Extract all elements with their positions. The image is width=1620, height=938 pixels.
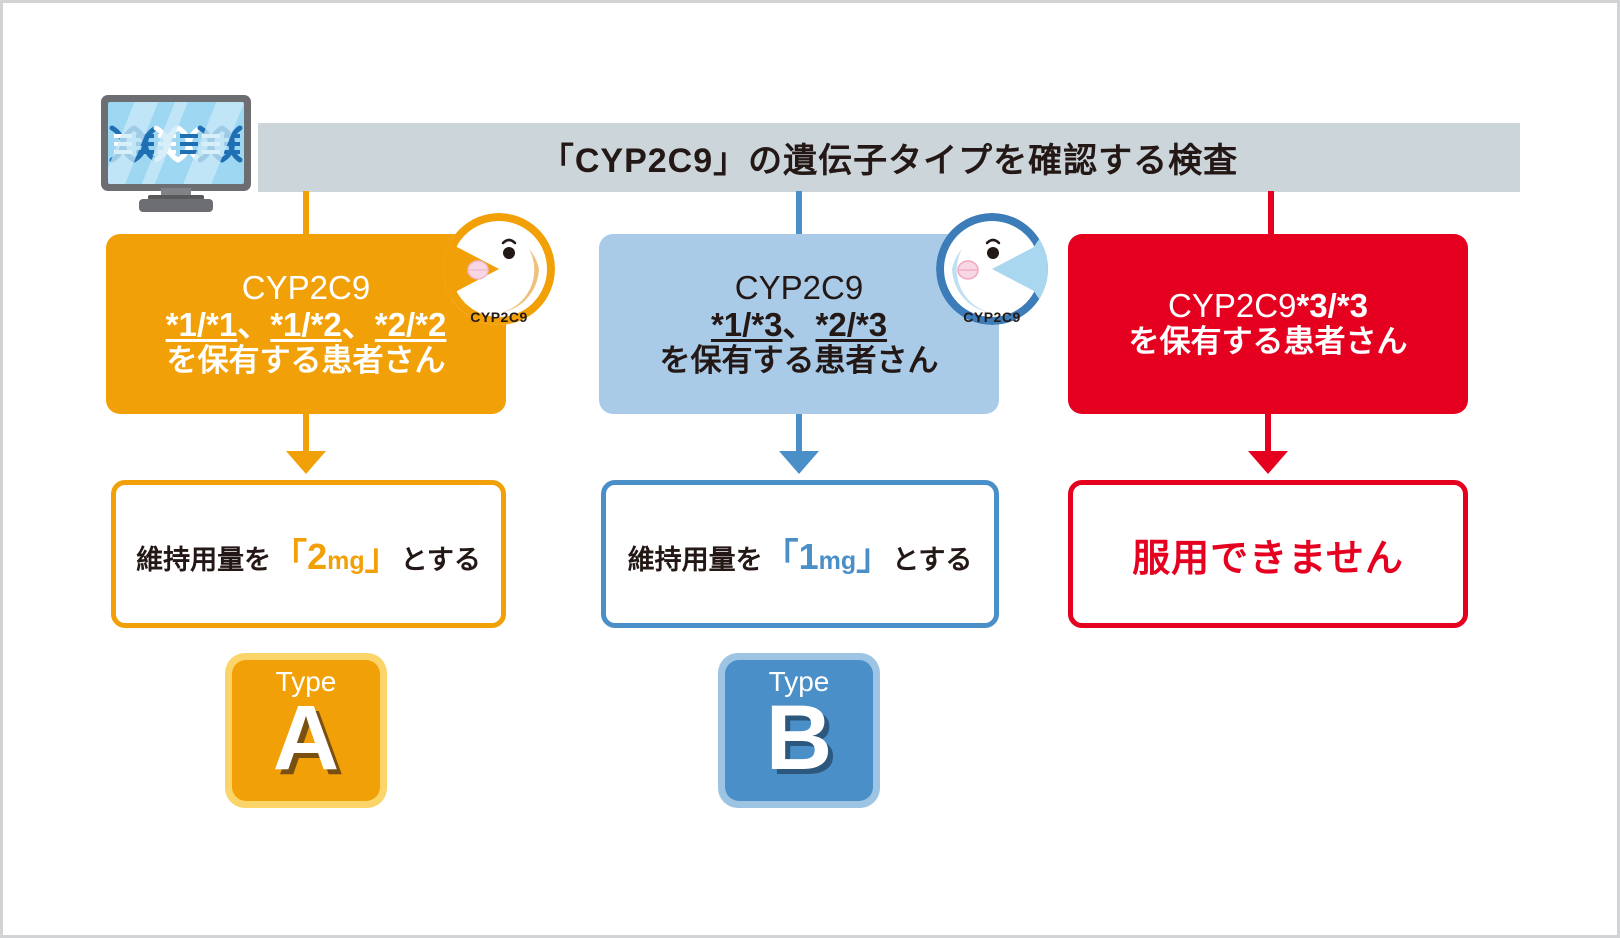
group-box-type-c: CYP2C9*3/*3 を保有する患者さん	[1068, 234, 1468, 414]
connector-line-b	[796, 191, 802, 236]
group-subtitle-b: を保有する患者さん	[660, 344, 939, 379]
result-suffix-a: とする	[401, 545, 481, 575]
result-suffix-b: とする	[892, 545, 972, 575]
mascot-cyp2c9-orange: CYP2C9	[443, 213, 555, 343]
result-dose-b: 1	[799, 536, 819, 577]
allele-list-b: *1/*3、*2/*3	[711, 307, 887, 344]
allele-c-1: *3/*3	[1296, 287, 1368, 324]
connector-line-c	[1268, 191, 1274, 236]
result-box-type-b: 維持用量を「1mg」とする	[601, 480, 999, 628]
allele-b-1: *1/*3	[711, 306, 783, 343]
result-close-bracket-b: 」	[856, 536, 892, 577]
gene-name-c: CYP2C9	[1168, 287, 1296, 324]
group-subtitle-c: を保有する患者さん	[1129, 325, 1408, 360]
arrow-stem-a	[303, 414, 309, 454]
monitor-base	[139, 199, 213, 212]
gene-name-b: CYP2C9	[735, 270, 863, 307]
type-badge-b: Type B	[718, 653, 880, 808]
page-title: 「CYP2C9」の遺伝子タイプを確認する検査	[258, 123, 1520, 192]
title-banner: 「CYP2C9」の遺伝子タイプを確認する検査	[258, 123, 1520, 192]
result-dose-a: 2	[307, 536, 327, 577]
gene-name-a: CYP2C9	[242, 270, 370, 307]
result-prefix-b: 維持用量を	[628, 545, 763, 575]
result-close-bracket-a: 」	[365, 536, 401, 577]
monitor-screen	[108, 102, 244, 184]
gene-line-c: CYP2C9*3/*3	[1168, 288, 1368, 325]
arrow-head-c	[1248, 451, 1288, 474]
result-text-c: 服用できません	[1132, 527, 1404, 582]
result-prefix-a: 維持用量を	[136, 545, 271, 575]
mascot-label-a: CYP2C9	[443, 309, 555, 325]
mascot-label-b: CYP2C9	[936, 309, 1048, 325]
allele-b-2: *2/*3	[816, 306, 888, 343]
allele-a-1: *1/*1	[166, 306, 238, 343]
group-subtitle-a: を保有する患者さん	[167, 344, 446, 379]
mascot-cyp2c9-blue: CYP2C9	[936, 213, 1048, 343]
diagram-canvas: 「CYP2C9」の遺伝子タイプを確認する検査 CYP2C9 *1/*1、*1/*…	[0, 0, 1620, 938]
result-text-a: 維持用量を「2mg」とする	[136, 528, 481, 580]
result-text-b: 維持用量を「1mg」とする	[628, 528, 973, 580]
arrow-stem-c	[1265, 414, 1271, 454]
result-unit-b: mg	[819, 547, 857, 575]
allele-a-2: *1/*2	[270, 306, 342, 343]
allele-list-a: *1/*1、*1/*2、*2/*2	[166, 307, 447, 344]
badge-letter-b: B	[766, 692, 832, 784]
result-box-type-c: 服用できません	[1068, 480, 1468, 628]
allele-a-3: *2/*2	[375, 306, 447, 343]
arrow-head-b	[779, 451, 819, 474]
result-box-type-a: 維持用量を「2mg」とする	[111, 480, 506, 628]
result-open-bracket-b: 「	[763, 536, 799, 577]
monitor-dna-icon	[101, 95, 251, 215]
arrow-head-a	[286, 451, 326, 474]
badge-letter-a: A	[273, 692, 339, 784]
result-open-bracket-a: 「	[271, 536, 307, 577]
arrow-stem-b	[796, 414, 802, 454]
type-badge-a: Type A	[225, 653, 387, 808]
connector-line-a	[303, 191, 309, 236]
result-unit-a: mg	[327, 547, 365, 575]
